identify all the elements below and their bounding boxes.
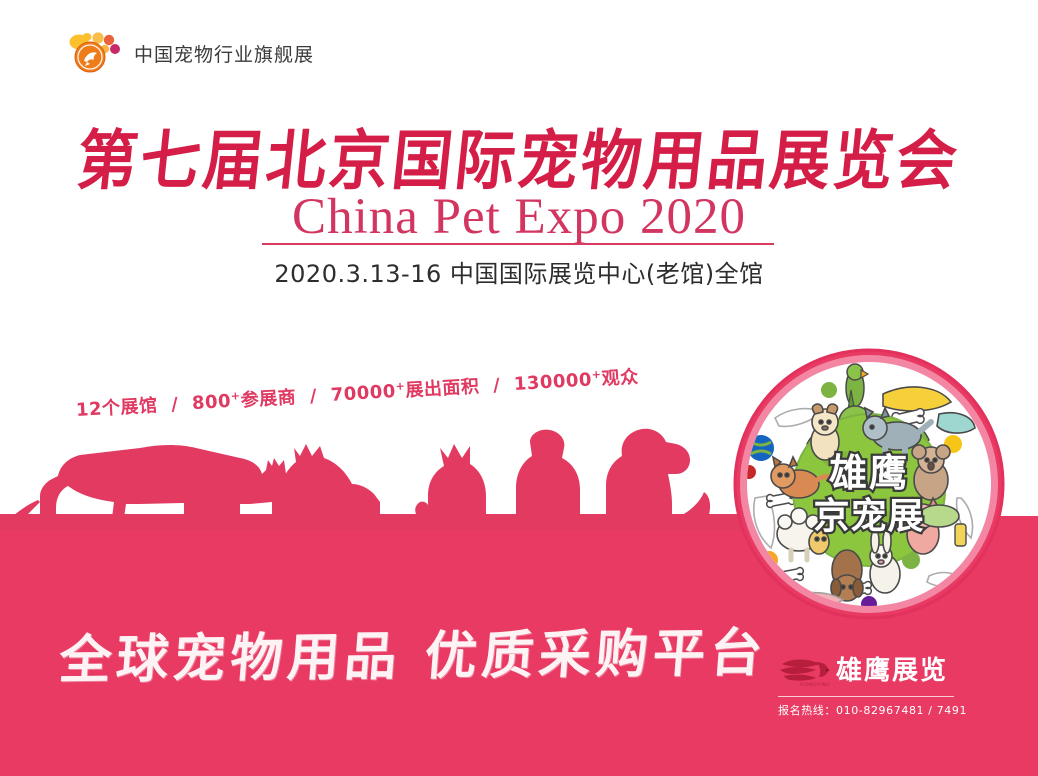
brand-tagline: 中国宠物行业旗舰展	[134, 40, 314, 67]
svg-text:XIONGYING: XIONGYING	[800, 682, 830, 688]
page-title-english: China Pet Expo 2020	[0, 188, 1038, 246]
brand-bar: 中国宠物行业旗舰展	[68, 28, 314, 78]
hotline-label: 报名热线：	[778, 704, 836, 717]
pet-globe-badge-icon: 雄鹰 京宠展	[733, 348, 1005, 620]
svg-text:京宠展: 京宠展	[813, 495, 924, 537]
slogan-text: 全球宠物用品 优质采购平台	[57, 610, 770, 692]
company-block: XIONGYING 雄鹰展览 报名热线：010-82967481 / 7491	[778, 650, 958, 718]
eagle-head-icon: XIONGYING	[778, 654, 830, 688]
company-divider	[778, 696, 954, 697]
svg-text:雄鹰: 雄鹰	[829, 451, 909, 495]
stat-separator: /	[492, 375, 500, 396]
hotline-text: 报名热线：010-82967481 / 7491	[778, 702, 958, 718]
poster-canvas: 中国宠物行业旗舰展 第七届北京国际宠物用品展览会 China Pet Expo …	[0, 0, 1038, 776]
pet-silhouettes-icon	[0, 400, 760, 530]
title-divider	[262, 243, 774, 245]
company-name: 雄鹰展览	[836, 658, 948, 684]
stat-item: 130000+观众	[513, 367, 639, 395]
pet-industry-emblem-icon	[68, 28, 126, 78]
date-venue-text: 2020.3.13-16 中国国际展览中心(老馆)全馆	[0, 254, 1038, 289]
hotline-number: 010-82967481 / 7491	[836, 704, 967, 717]
